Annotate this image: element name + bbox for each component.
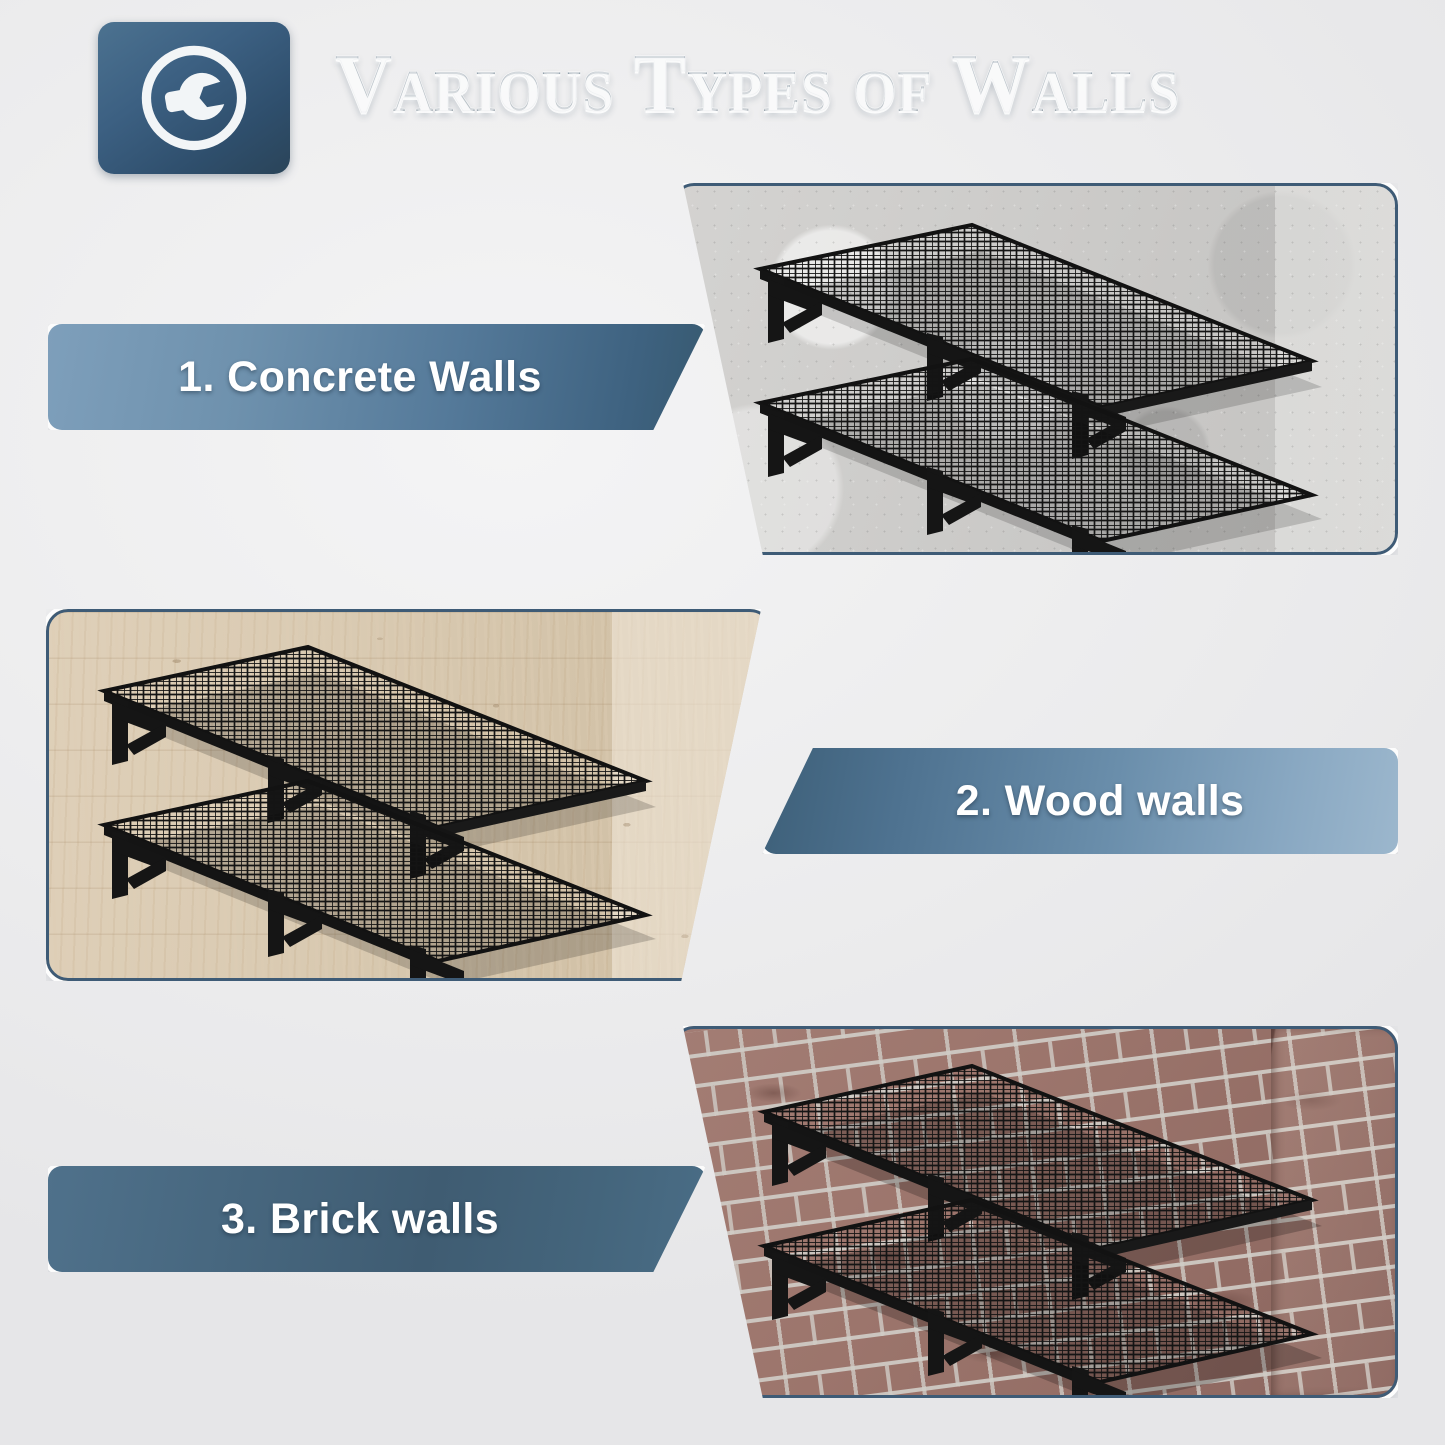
concrete-wall-photo (672, 183, 1398, 555)
wood-wall-scene (46, 609, 772, 981)
infographic-poster: Various Types of Walls (0, 0, 1445, 1445)
section-banner-wood: 2. Wood walls (762, 748, 1398, 854)
wood-wall-photo (46, 609, 772, 981)
section-banner-brick: 3. Brick walls (48, 1166, 706, 1272)
wrench-in-circle-icon (98, 22, 290, 174)
section-label-concrete: 1. Concrete Walls (48, 353, 706, 402)
wrench-glyph (136, 40, 252, 156)
header: Various Types of Walls (0, 0, 1445, 190)
shelf-units-wood (46, 609, 772, 981)
shelf-units-brick (672, 1026, 1398, 1398)
shelf-units-concrete (672, 183, 1398, 555)
brick-wall-scene (672, 1026, 1398, 1398)
section-label-brick: 3. Brick walls (48, 1195, 706, 1244)
page-title: Various Types of Walls (335, 34, 1303, 134)
brick-wall-photo (672, 1026, 1398, 1398)
concrete-wall-scene (672, 183, 1398, 555)
section-label-wood: 2. Wood walls (762, 777, 1398, 826)
section-banner-concrete: 1. Concrete Walls (48, 324, 706, 430)
